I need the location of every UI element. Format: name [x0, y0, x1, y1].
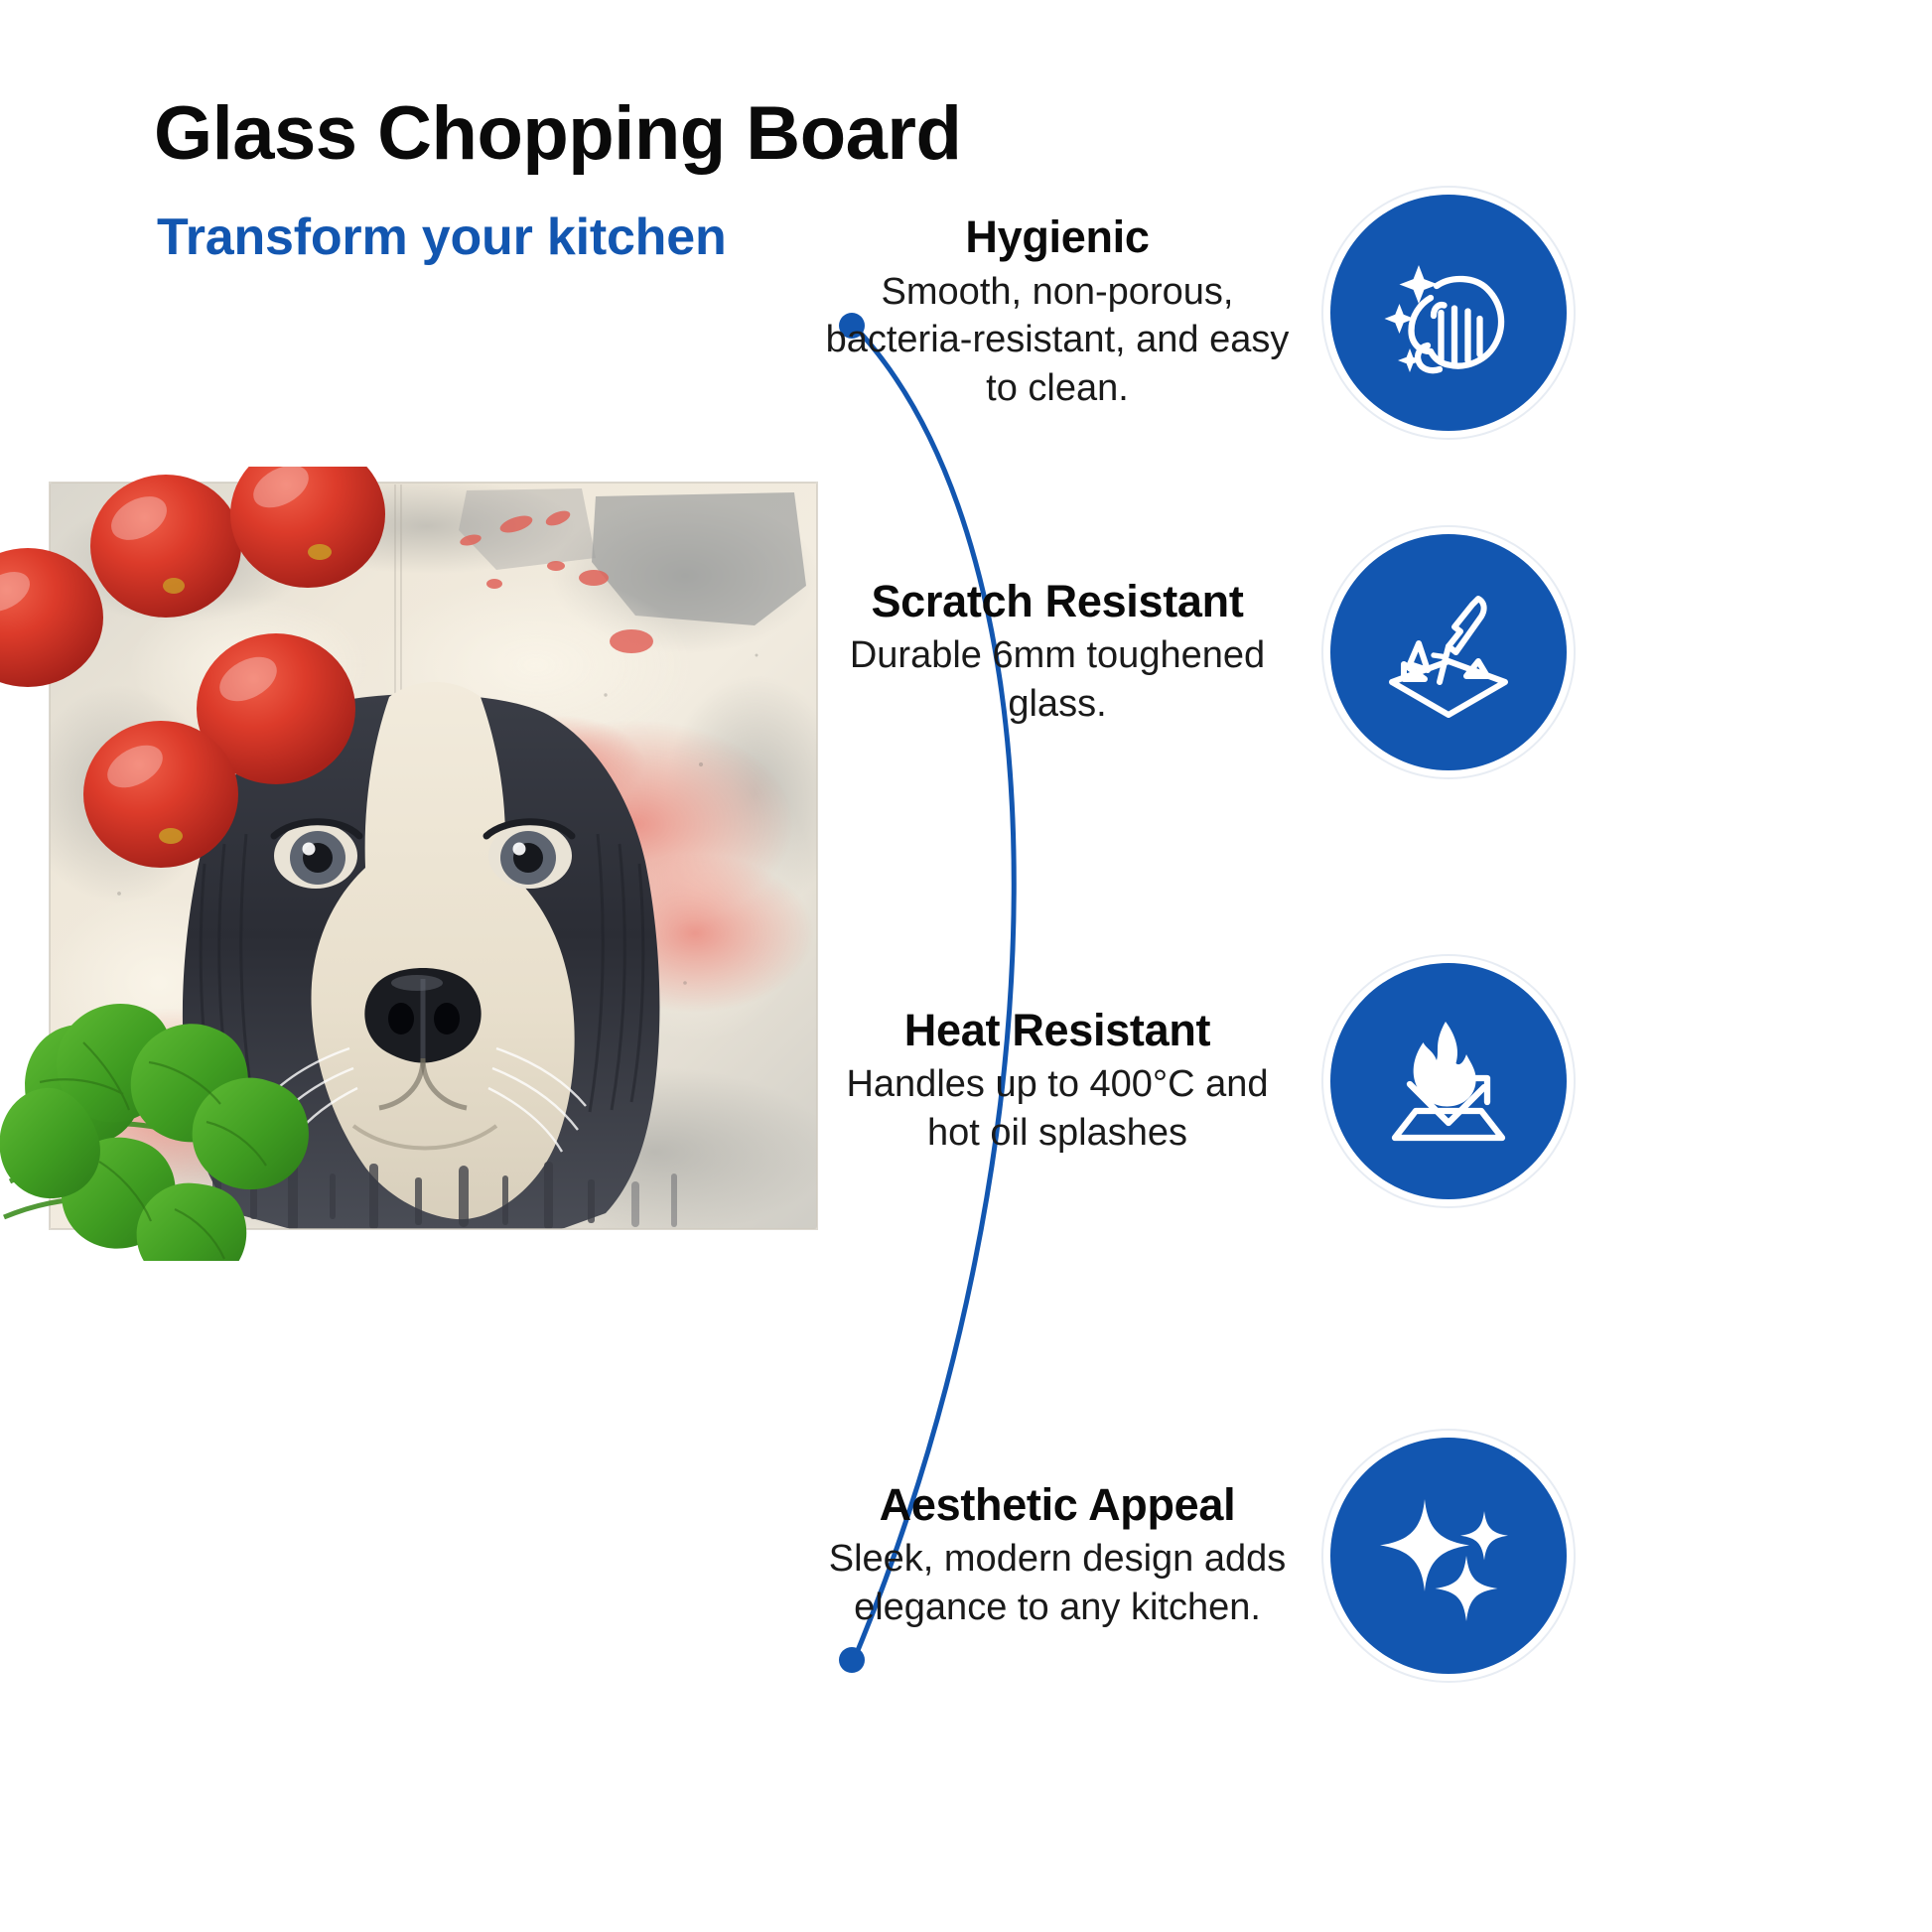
feature-description: Durable 6mm toughened glass. [824, 631, 1291, 728]
feature-heading: Hygienic [965, 212, 1149, 262]
sparkles-icon [1330, 1438, 1567, 1674]
page-title: Glass Chopping Board [154, 94, 961, 174]
feature-aesthetic-appeal: Aesthetic Appeal Sleek, modern design ad… [824, 1438, 1567, 1674]
knife-scratch-surface-icon [1330, 534, 1567, 770]
feature-text: Aesthetic Appeal Sleek, modern design ad… [824, 1480, 1291, 1632]
feature-heading: Heat Resistant [904, 1006, 1210, 1055]
infographic-canvas: Glass Chopping Board Transform your kitc… [0, 0, 1932, 1932]
feature-text: Hygienic Smooth, non-porous, bacteria-re… [824, 212, 1291, 412]
feature-heading: Scratch Resistant [871, 577, 1243, 626]
feature-text: Heat Resistant Handles up to 400°C and h… [824, 1006, 1291, 1158]
tomato [90, 475, 241, 618]
feature-heat-resistant: Heat Resistant Handles up to 400°C and h… [824, 963, 1567, 1199]
feature-hygienic: Hygienic Smooth, non-porous, bacteria-re… [824, 195, 1567, 431]
tomato [83, 721, 238, 868]
hand-wipe-sparkle-icon [1330, 195, 1567, 431]
feature-description: Sleek, modern design adds elegance to an… [824, 1535, 1291, 1631]
feature-heading: Aesthetic Appeal [880, 1480, 1236, 1530]
feature-scratch-resistant: Scratch Resistant Durable 6mm toughened … [824, 534, 1567, 770]
feature-description: Handles up to 400°C and hot oil splashes [824, 1060, 1291, 1157]
product-image [0, 467, 854, 1261]
dog-nose [364, 968, 481, 1063]
page-subtitle: Transform your kitchen [157, 210, 727, 265]
feature-text: Scratch Resistant Durable 6mm toughened … [824, 577, 1291, 729]
flame-heat-deflect-icon [1330, 963, 1567, 1199]
feature-description: Smooth, non-porous, bacteria-resistant, … [824, 268, 1291, 413]
